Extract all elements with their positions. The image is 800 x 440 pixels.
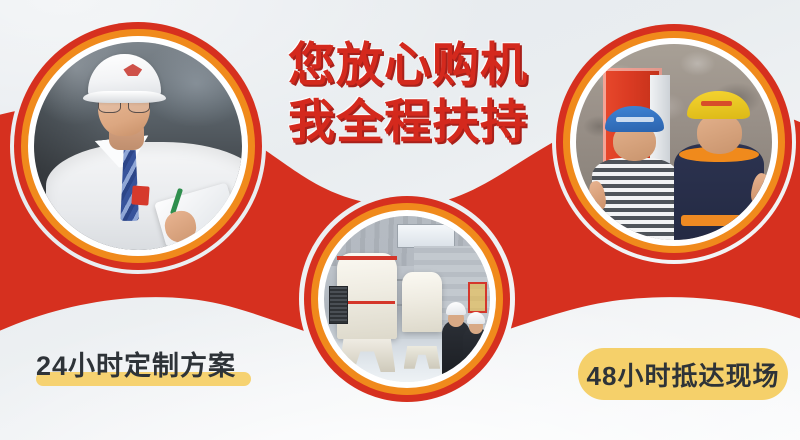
headline-line-1: 您放心购机 (288, 36, 540, 93)
photo-engineer (34, 42, 242, 250)
uniform-orange-stripe (681, 215, 757, 226)
caption-left: 24小时定制方案 (36, 344, 276, 383)
caption-right-text: 48小时抵达现场 (587, 356, 780, 393)
ring-orange (563, 31, 785, 253)
crusher-machine-secondary (402, 272, 442, 332)
worker-blue-helmet (592, 103, 678, 240)
worker-face (697, 113, 742, 154)
medallion-workers-thumbs-up (556, 24, 792, 260)
caption-right-pill: 48小时抵达现场 (578, 348, 788, 400)
machine-vent-grille (329, 286, 348, 325)
photo-factory (324, 216, 490, 382)
caption-left-text: 24小时定制方案 (36, 344, 276, 383)
worker-white-helmet (467, 312, 485, 323)
engineer-badge (131, 185, 149, 205)
factory-rack (468, 282, 487, 313)
yellow-hard-hat (687, 91, 750, 119)
ring-white (570, 38, 778, 246)
ring-white (28, 36, 248, 256)
scene-engineer (34, 42, 242, 250)
worker-yellow-helmet (674, 91, 764, 240)
photo-workers (576, 44, 772, 240)
machine-red-band (337, 256, 397, 260)
ring-white (318, 210, 496, 388)
scene-factory (324, 216, 490, 382)
ring-orange (21, 29, 255, 263)
promotional-banner: 您放心购机 我全程扶持 24小时定制方案 48小时抵达现场 (0, 0, 800, 440)
blue-hard-hat (605, 106, 664, 132)
headline-line-2: 我全程扶持 (288, 93, 540, 150)
medallion-factory-machines (304, 196, 510, 402)
medallion-engineer (14, 22, 262, 270)
engineer-helmet-brim (83, 91, 166, 103)
factory-worker-back (463, 312, 488, 378)
headline: 您放心购机 我全程扶持 (288, 36, 540, 150)
factory-window (397, 224, 455, 248)
worker-jacket (463, 328, 488, 378)
scene-workers (576, 44, 772, 240)
ring-orange (311, 203, 503, 395)
